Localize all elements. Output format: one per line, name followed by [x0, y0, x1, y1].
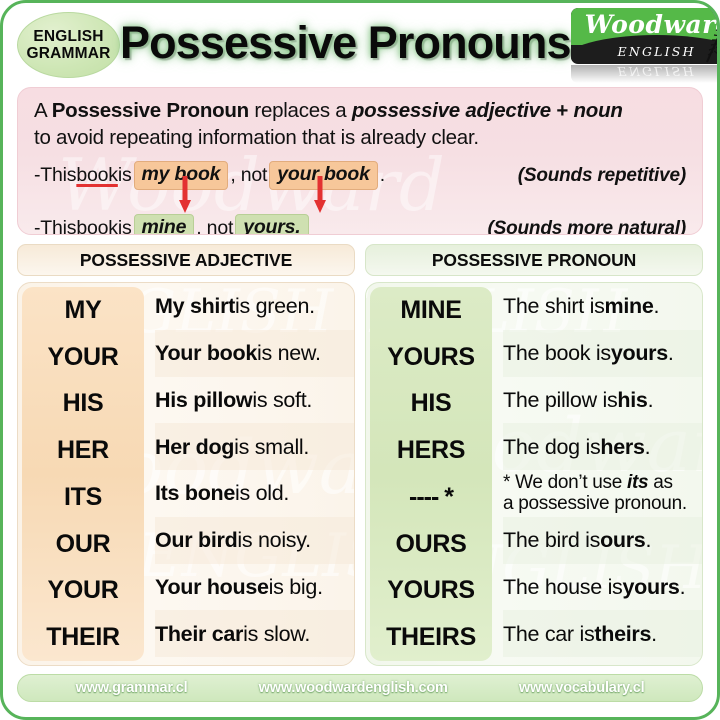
pronoun-example-column: The shirt is mine.The book is yours.The …	[492, 283, 702, 665]
logo-reflection: ENGLISH	[571, 65, 720, 83]
ex1-underlined-noun: book	[76, 164, 118, 187]
adjective-key: ITS	[22, 474, 144, 521]
adjective-key: THEIR	[22, 614, 144, 661]
adjective-key: OUR	[22, 521, 144, 568]
footer-link-grammar[interactable]: www.grammar.cl	[76, 680, 188, 696]
adjective-example: His pillow is soft.	[155, 377, 354, 424]
pronoun-example: The car is theirs.	[503, 610, 702, 657]
pronoun-word: yours	[623, 575, 680, 599]
pronoun-key: HIS	[370, 381, 492, 428]
def-term-adjective: possessive adjective	[352, 99, 551, 122]
possessive-pronoun-panel: ENGLISH Woodward ENGLISH MINEYOURSHISHER…	[365, 282, 703, 666]
badge-line-2: GRAMMAR	[26, 45, 110, 62]
adjective-key: MY	[22, 287, 144, 334]
definition-box: Woodward A Possessive Pronoun replaces a…	[17, 87, 703, 235]
pronoun-example: The shirt is mine.	[503, 283, 702, 330]
footer-link-vocabulary[interactable]: www.vocabulary.cl	[519, 680, 645, 696]
adjective-example: Our bird is noisy.	[155, 517, 354, 564]
adjective-key: HIS	[22, 381, 144, 428]
adjective-phrase: Its bone	[155, 481, 235, 505]
fern-icon	[693, 8, 720, 64]
ex1-note: (Sounds repetitive)	[518, 165, 688, 187]
column-header-possessive-adjective: POSSESSIVE ADJECTIVE	[17, 244, 355, 276]
header: ENGLISH GRAMMAR Possessive Pronouns Wood…	[3, 3, 717, 87]
adjective-key: YOUR	[22, 334, 144, 381]
adjective-phrase: Their car	[155, 622, 243, 646]
logo-box: Woodward ® ENGLISH	[571, 8, 720, 64]
title-container: Possessive Pronouns	[120, 17, 571, 73]
adjective-example-column: My shirt is green.Your book is new.His p…	[144, 283, 354, 665]
adjective-phrase: Your house	[155, 575, 269, 599]
ex2-between: , not	[196, 217, 233, 235]
ex1-mid: is	[118, 164, 132, 187]
ex1-end: .	[380, 164, 385, 187]
logo-reflection-text: ENGLISH	[571, 65, 720, 79]
pronoun-word: ours	[600, 528, 645, 552]
adjective-phrase: Her dog	[155, 435, 234, 459]
badge-line-1: ENGLISH	[33, 28, 103, 45]
column-header-possessive-pronoun: POSSESSIVE PRONOUN	[365, 244, 703, 276]
definition-sentence-line2: to avoid repeating information that is a…	[34, 124, 688, 151]
pronoun-example: The dog is hers.	[503, 423, 702, 470]
ex2-chip-yours: yours.	[235, 214, 308, 235]
adjective-example: Your house is big.	[155, 564, 354, 611]
infographic-poster: ENGLISH GRAMMAR Possessive Pronouns Wood…	[0, 0, 720, 720]
pronoun-key-none: ---- *	[370, 474, 492, 521]
pronoun-word: his	[617, 388, 647, 412]
def-term-noun: noun	[574, 99, 623, 122]
adjective-phrase: Your book	[155, 341, 257, 365]
pronoun-key: YOURS	[370, 334, 492, 381]
def-plus: +	[551, 99, 574, 122]
ex2-pre: This	[40, 217, 76, 235]
arrow-down-icon-1	[178, 176, 192, 214]
adjective-example: Their car is slow.	[155, 610, 354, 657]
def-term: Possessive Pronoun	[52, 99, 249, 122]
pronoun-key: THEIRS	[370, 614, 492, 661]
adjective-key-column: MYYOURHISHERITSOURYOURTHEIR	[22, 287, 144, 661]
def-text-c: replaces a	[249, 99, 352, 122]
column-headers: POSSESSIVE ADJECTIVE POSSESSIVE PRONOUN	[17, 244, 703, 276]
arrow-down-icon-2	[313, 176, 327, 214]
english-grammar-badge: ENGLISH GRAMMAR	[17, 12, 120, 78]
example-row-repetitive: - This book is my book, not your book. (…	[34, 161, 688, 190]
adjective-example: My shirt is green.	[155, 283, 354, 330]
example-row-natural: - This book is mine, not yours. (Sounds …	[34, 214, 688, 235]
pronoun-its-footnote: * We don’t use its asa possessive pronou…	[503, 470, 702, 517]
adjective-example: Its bone is old.	[155, 470, 354, 517]
ex2-mid: is	[118, 217, 132, 235]
pronoun-key: YOURS	[370, 568, 492, 615]
definition-sentence: A Possessive Pronoun replaces a possessi…	[34, 97, 688, 151]
ex2-note: (Sounds more natural)	[488, 218, 688, 235]
adjective-key: HER	[22, 427, 144, 474]
page-title: Possessive Pronouns	[120, 17, 571, 69]
footer-links: www.grammar.cl www.woodwardenglish.com w…	[17, 674, 703, 702]
pronoun-word: mine	[605, 294, 654, 318]
pronoun-example: The pillow is his.	[503, 377, 702, 424]
adjective-phrase: My shirt	[155, 294, 235, 318]
footer-link-woodwardenglish[interactable]: www.woodwardenglish.com	[259, 680, 448, 696]
adjective-example: Your book is new.	[155, 330, 354, 377]
pronoun-key: MINE	[370, 287, 492, 334]
pronoun-key: OURS	[370, 521, 492, 568]
pronoun-word: yours	[611, 341, 668, 365]
pronoun-example: The bird is ours.	[503, 517, 702, 564]
footnote-its: its	[627, 472, 648, 493]
ex2-chip-mine: mine	[134, 214, 195, 235]
pronoun-example: The house is yours.	[503, 564, 702, 611]
pronoun-key: HERS	[370, 427, 492, 474]
registered-trademark-icon: ®	[717, 14, 720, 24]
ex1-between: , not	[230, 164, 267, 187]
pronoun-word: hers	[600, 435, 644, 459]
comparison-tables: ENGLISH Woodward ENGLISH MYYOURHISHERITS…	[17, 282, 703, 666]
possessive-adjective-panel: ENGLISH Woodward ENGLISH MYYOURHISHERITS…	[17, 282, 355, 666]
ex2-underlined-noun: book	[76, 217, 118, 235]
pronoun-word: theirs	[594, 622, 651, 646]
pronoun-example: The book is yours.	[503, 330, 702, 377]
ex1-pre: This	[40, 164, 76, 187]
adjective-phrase: Our bird	[155, 528, 237, 552]
adjective-key: YOUR	[22, 568, 144, 615]
adjective-phrase: His pillow	[155, 388, 252, 412]
adjective-example: Her dog is small.	[155, 423, 354, 470]
woodward-english-logo: Woodward ® ENGLISH ENGLISH	[571, 8, 720, 83]
def-text-a: A	[34, 99, 52, 122]
pronoun-key-column: MINEYOURSHISHERS---- *OURSYOURSTHEIRS	[370, 287, 492, 661]
